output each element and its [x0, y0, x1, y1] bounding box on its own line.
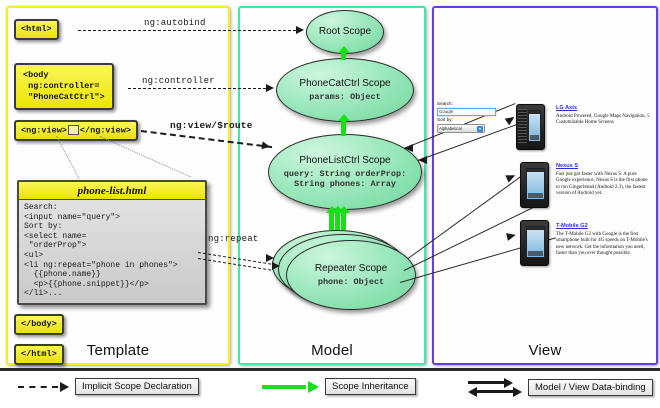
- scope-repeater-name: Repeater Scope: [315, 263, 387, 275]
- column-model-label: Model: [240, 342, 424, 359]
- bind-arrowhead-orderprop: [418, 156, 427, 164]
- edge-repeat-arrowhead-2: [272, 262, 280, 270]
- arrowhead-icon: [60, 382, 69, 392]
- legend-databinding-label: Model / View Data-binding: [528, 379, 653, 396]
- edge-autobind-line: [78, 30, 296, 31]
- diagram-canvas: Template <html> <body ng:controller= "Ph…: [0, 0, 660, 405]
- search-input[interactable]: Google: [437, 108, 496, 116]
- phone-thumbnail-lg-axis: [516, 104, 545, 150]
- listing-snippet: Android Powered, Google Maps Navigation,…: [556, 114, 650, 127]
- edge-autobind-label: ng:autobind: [144, 18, 206, 28]
- chevron-down-icon: ▾: [477, 126, 483, 132]
- scope-phonecatctrl-name: PhoneCatCtrl Scope: [299, 78, 390, 90]
- legend-inheritance: Scope Inheritance: [262, 378, 416, 395]
- scope-phonecatctrl-props: params: Object: [309, 92, 380, 102]
- listing-item: T-Mobile G2 The T-Mobile G2 with Google …: [556, 222, 650, 258]
- inheritance-arrow-phonecat: [341, 120, 346, 136]
- phone-list-template-panel: phone-list.html Search: <input name="que…: [17, 180, 207, 305]
- scope-root-name: Root Scope: [319, 26, 371, 38]
- listing-item: Nexus S Fast just got faster with Nexus …: [556, 162, 650, 198]
- sort-select-value: Alphabetical: [439, 125, 462, 132]
- tag-html-close: </html>: [14, 344, 64, 365]
- edge-repeat-label: ng:repeat: [208, 234, 258, 244]
- keyboard-icon: [518, 109, 527, 145]
- edge-controller-line: [128, 88, 266, 89]
- bind-arrowhead-query: [404, 144, 413, 152]
- scope-phonelistctrl-props: query: String orderProp: String phones: …: [269, 169, 421, 189]
- scope-repeater-props: phone: Object: [318, 277, 384, 287]
- listing-link[interactable]: LG Axis: [556, 104, 650, 112]
- ngview-slot-icon: [68, 125, 79, 135]
- edge-repeat-arrowhead-1: [266, 254, 274, 262]
- scope-repeater: Repeater Scope phone: Object: [286, 240, 416, 310]
- listing-link[interactable]: T-Mobile G2: [556, 222, 650, 230]
- edge-controller-arrowhead: [266, 84, 274, 92]
- legend-implicit: Implicit Scope Declaration: [18, 378, 199, 395]
- double-arrow-icon: [468, 378, 522, 396]
- inheritance-arrow-repeater-2: [335, 212, 340, 230]
- phone-thumbnail-nexus-s: [520, 162, 549, 208]
- green-arrowhead-icon: [308, 381, 319, 393]
- tag-ngview-close: </ng:view>: [80, 125, 131, 135]
- column-view-label: View: [434, 342, 656, 359]
- phone-thumbnail-t-mobile-g2: [520, 220, 549, 266]
- edge-ngview-route-label: ng:view/$route: [170, 120, 253, 131]
- tag-body-close: </body>: [14, 314, 64, 335]
- listing-snippet: Fast just got faster with Nexus S. A pur…: [556, 172, 650, 198]
- edge-ngview-arrowhead: [261, 141, 270, 150]
- phone-screen: [526, 168, 545, 200]
- tag-ngview: <ng:view></ng:view>: [14, 120, 138, 141]
- inheritance-arrow-root: [341, 52, 346, 60]
- phone-list-panel-code: Search: <input name="query"> Sort by: <s…: [19, 200, 205, 303]
- dashed-line-icon: [18, 386, 58, 388]
- scope-phonelistctrl-name: PhoneListCtrl Scope: [299, 155, 390, 167]
- edge-controller-label: ng:controller: [142, 76, 215, 86]
- listing-link[interactable]: Nexus S: [556, 162, 650, 170]
- search-label: Search:: [437, 101, 497, 107]
- phone-screen: [528, 110, 541, 142]
- phone-screen: [526, 226, 545, 258]
- scope-phonecatctrl: PhoneCatCtrl Scope params: Object: [276, 58, 414, 122]
- tag-html-open: <html>: [14, 19, 59, 40]
- legend: Implicit Scope Declaration Scope Inherit…: [0, 368, 660, 408]
- green-line-icon: [262, 385, 306, 389]
- legend-databinding: Model / View Data-binding: [468, 378, 653, 396]
- inheritance-arrow-repeater-3: [341, 212, 346, 230]
- sort-label: Sort by:: [437, 117, 497, 123]
- edge-autobind-arrowhead: [296, 26, 304, 34]
- view-search-form: Search: Google Sort by: Alphabetical ▾: [437, 101, 497, 133]
- sort-select[interactable]: Alphabetical ▾: [437, 124, 485, 133]
- inheritance-arrow-repeater-1: [329, 212, 334, 230]
- listing-item: LG Axis Android Powered, Google Maps Nav…: [556, 104, 650, 127]
- listing-snippet: The T-Mobile G2 with Google is the first…: [556, 232, 650, 258]
- tag-ngview-open: <ng:view>: [21, 125, 67, 135]
- tag-body-open: <body ng:controller= "PhoneCatCtrl">: [14, 63, 114, 110]
- legend-implicit-label: Implicit Scope Declaration: [75, 378, 199, 395]
- scope-phonelistctrl: PhoneListCtrl Scope query: String orderP…: [268, 134, 422, 210]
- legend-inheritance-label: Scope Inheritance: [325, 378, 416, 395]
- phone-list-panel-title: phone-list.html: [19, 182, 205, 200]
